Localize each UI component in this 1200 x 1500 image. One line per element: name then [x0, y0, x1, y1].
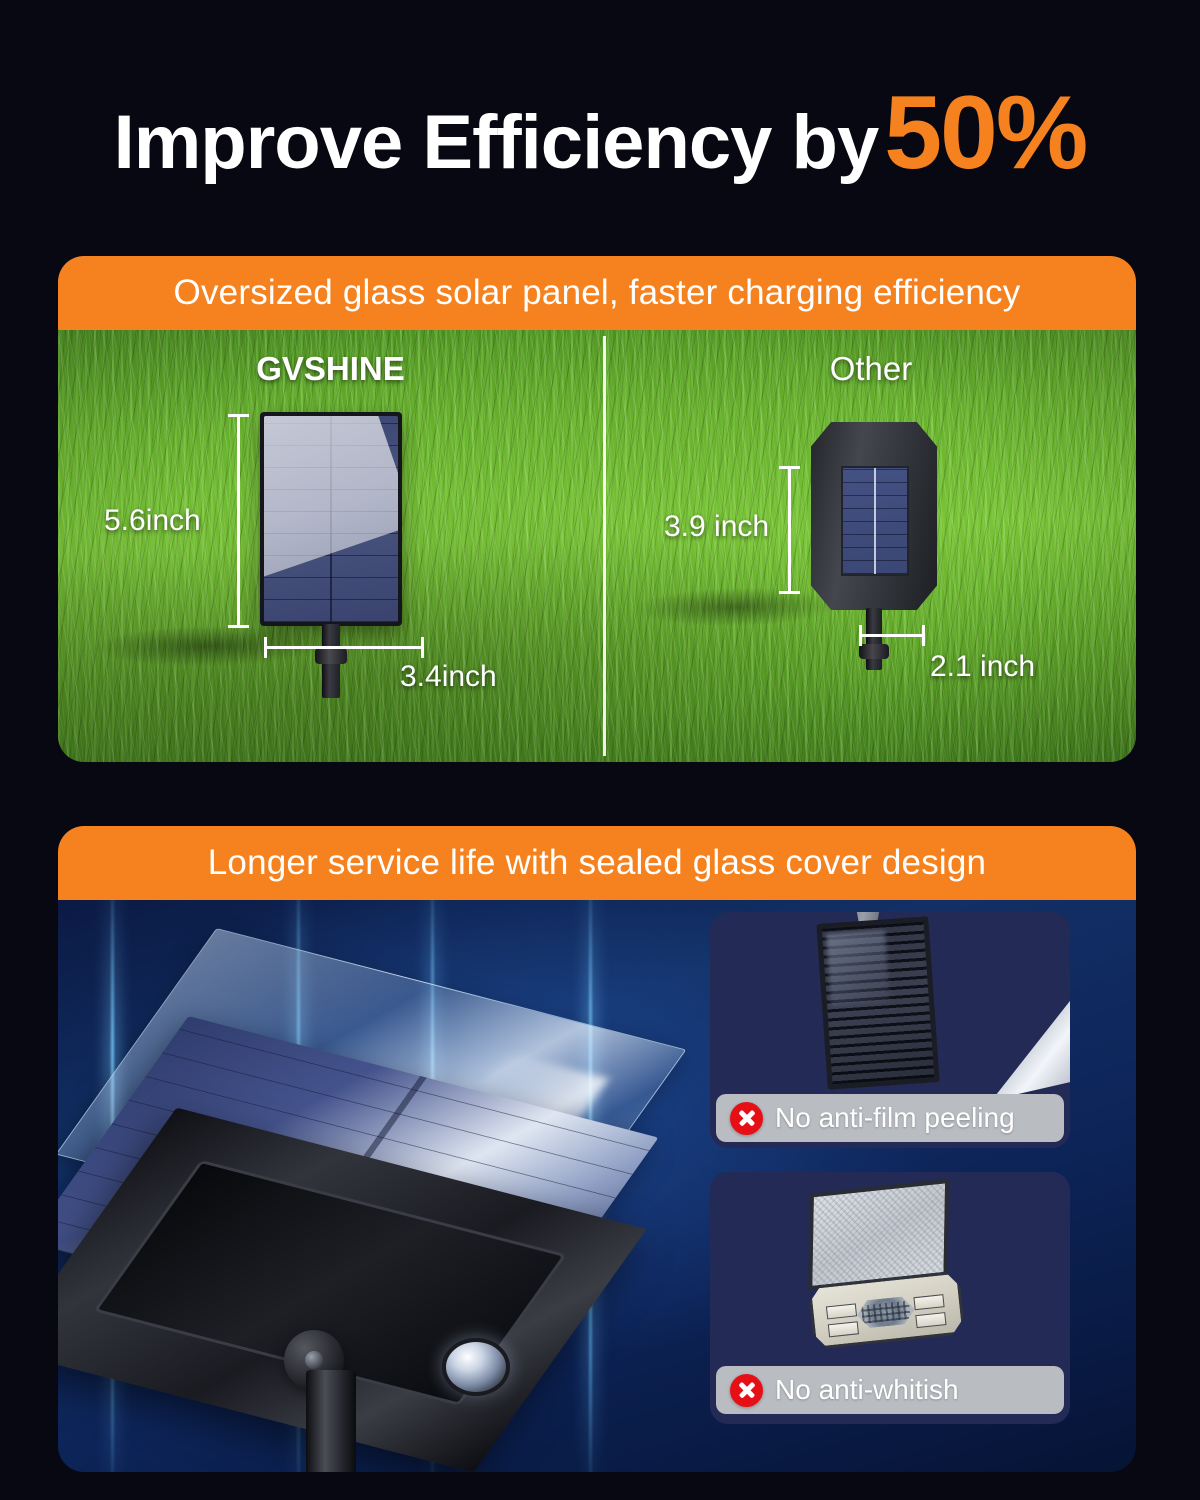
comparison-banner-text: Oversized glass solar panel, faster char…: [174, 273, 1021, 313]
other-stem: [866, 608, 882, 670]
peel-photo-panel: [816, 916, 939, 1089]
comparison-banner: Oversized glass solar panel, faster char…: [58, 256, 1136, 330]
other-panel-cells: [841, 466, 909, 576]
durability-banner-text: Longer service life with sealed glass co…: [208, 843, 986, 883]
led-lens: [442, 1338, 510, 1396]
gvshine-width-label: 3.4inch: [400, 660, 497, 694]
durability-body: No anti-film peeling No anti-whitish: [58, 900, 1136, 1472]
whitened-panel-surface: [808, 1179, 949, 1290]
other-ground-shadow: [626, 588, 846, 626]
other-width-dimension-line: [859, 634, 925, 637]
gvshine-solar-panel: [260, 412, 402, 626]
caption-text-whitish: No anti-whitish: [775, 1374, 959, 1406]
gvshine-label: GVSHINE: [58, 350, 603, 388]
other-height-dimension-line: [788, 466, 791, 594]
caption-pill-whitish: No anti-whitish: [716, 1366, 1064, 1414]
other-height-label: 3.9 inch: [664, 510, 769, 544]
gvshine-height-dimension-line: [237, 414, 240, 628]
gvshine-panel-cells: [264, 416, 398, 622]
whitish-photo: [710, 1172, 1070, 1364]
inset-card-whitish: No anti-whitish: [710, 1172, 1070, 1424]
durability-banner: Longer service life with sealed glass co…: [58, 826, 1136, 900]
durability-card: Longer service life with sealed glass co…: [58, 826, 1136, 1472]
other-label: Other: [606, 350, 1136, 388]
caption-pill-film-peeling: No anti-film peeling: [716, 1094, 1064, 1142]
page-headline: Improve Efficiency by50%: [0, 74, 1200, 193]
exploded-product-view: [90, 934, 730, 1472]
caption-text-film-peeling: No anti-film peeling: [775, 1102, 1015, 1134]
headline-main-text: Improve Efficiency by: [114, 100, 879, 185]
x-circle-icon: [730, 1102, 763, 1135]
peel-photo-reflection: [826, 930, 890, 1006]
gvshine-collar: [315, 648, 347, 664]
other-collar: [859, 644, 889, 659]
comparison-body: GVSHINE 5.6inch 3.4inch Other: [58, 330, 1136, 762]
comparison-side-other: Other 3.9 inch 2.1 inch: [606, 330, 1136, 762]
whitish-light-unit: [798, 1178, 974, 1354]
peeling-film: [992, 978, 1070, 1100]
other-width-label: 2.1 inch: [930, 650, 1035, 684]
mount-pole: [306, 1370, 356, 1472]
film-peeling-photo: [710, 912, 1070, 1092]
headline-accent-text: 50%: [884, 75, 1086, 191]
comparison-side-gvshine: GVSHINE 5.6inch 3.4inch: [58, 330, 603, 762]
gvshine-height-label: 5.6inch: [104, 504, 201, 538]
comparison-card: Oversized glass solar panel, faster char…: [58, 256, 1136, 762]
inset-card-film-peeling: No anti-film peeling: [710, 912, 1070, 1148]
x-circle-icon: [730, 1374, 763, 1407]
gvshine-width-dimension-line: [264, 646, 424, 649]
